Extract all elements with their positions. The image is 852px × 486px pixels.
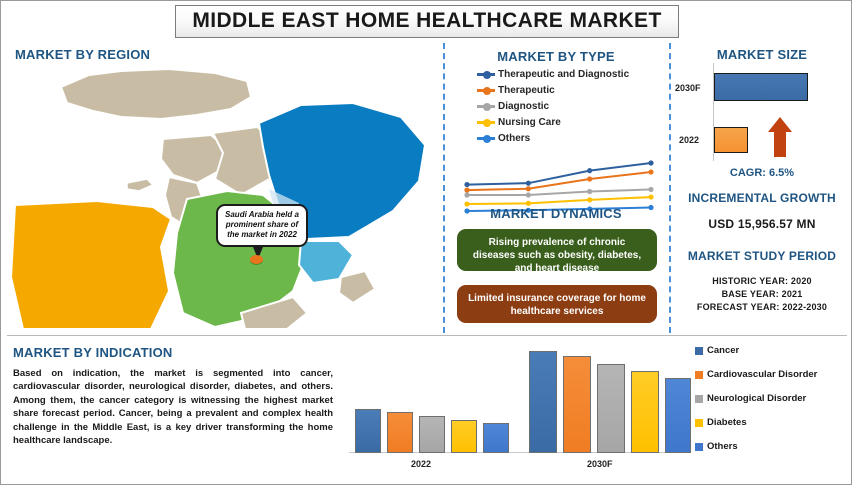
legend-item-therapeutic: Therapeutic xyxy=(477,85,629,96)
indication-paragraph: Based on indication, the market is segme… xyxy=(13,367,333,448)
legend-label: Therapeutic and Diagnostic xyxy=(498,69,629,80)
legend-item-others: Others xyxy=(477,133,629,144)
legend-line-icon xyxy=(477,105,495,108)
legend-label: Diagnostic xyxy=(498,101,549,112)
map-pin-icon xyxy=(250,255,263,264)
indication-legend-item-cancer: Cancer xyxy=(695,345,845,356)
legend-label: Others xyxy=(707,441,738,452)
incremental-growth-heading: INCREMENTAL GROWTH xyxy=(671,191,852,205)
bar-2022-diabetes xyxy=(451,420,477,453)
market-driver-box: Rising prevalence of chronic diseases su… xyxy=(457,229,657,271)
legend-dot-icon xyxy=(483,103,491,111)
indication-heading: MARKET BY INDICATION xyxy=(13,345,173,360)
indication-legend-item-others: Others xyxy=(695,441,845,452)
line-marker xyxy=(526,181,531,186)
legend-item-therapeutic-and-diagnostic: Therapeutic and Diagnostic xyxy=(477,69,629,80)
indication-legend: Cancer Cardiovascular Disorder Neurologi… xyxy=(695,345,845,465)
bar-2030f-cancer xyxy=(529,351,557,453)
bar-2022-neurological-disorder xyxy=(419,416,445,453)
growth-arrow-icon xyxy=(767,117,793,157)
market-size-panel: 2030F 2022 CAGR: 6.5% INCREMENTAL GROWTH… xyxy=(671,41,852,333)
legend-label: Others xyxy=(498,133,530,144)
indication-legend-item-diabetes: Diabetes xyxy=(695,417,845,428)
legend-label: Therapeutic xyxy=(498,85,555,96)
type-legend: Therapeutic and Diagnostic Therapeutic D… xyxy=(477,69,629,149)
divider-left xyxy=(443,43,445,333)
legend-swatch-icon xyxy=(695,419,703,427)
indication-bar-chart: 2022 2030F xyxy=(349,351,685,471)
historic-year: HISTORIC YEAR: 2020 xyxy=(671,275,852,288)
legend-item-nursing-care: Nursing Care xyxy=(477,117,629,128)
legend-dot-icon xyxy=(483,87,491,95)
map-country-cyprus xyxy=(127,179,153,191)
bar-2022-cancer xyxy=(355,409,381,453)
market-restraint-box: Limited insurance coverage for home heal… xyxy=(457,285,657,323)
size-bar-label-2022: 2022 xyxy=(679,135,699,145)
legend-label: Diabetes xyxy=(707,417,747,428)
legend-dot-icon xyxy=(483,71,491,79)
legend-line-icon xyxy=(477,89,495,92)
line-marker xyxy=(464,182,469,187)
legend-item-diagnostic: Diagnostic xyxy=(477,101,629,112)
legend-swatch-icon xyxy=(695,395,703,403)
indication-legend-item-neurological-disorder: Neurological Disorder xyxy=(695,393,845,404)
line-marker xyxy=(648,160,653,165)
map-country-turkey xyxy=(61,69,251,119)
market-by-indication-section: MARKET BY INDICATION Based on indication… xyxy=(1,337,852,486)
legend-label: Nursing Care xyxy=(498,117,561,128)
line-marker xyxy=(648,169,653,174)
bar-2030f-others xyxy=(665,378,691,453)
study-period-heading: MARKET STUDY PERIOD xyxy=(671,249,852,263)
legend-dot-icon xyxy=(483,135,491,143)
bar-group-label-2022: 2022 xyxy=(411,459,431,469)
size-bar-2030 xyxy=(714,73,808,101)
base-year: BASE YEAR: 2021 xyxy=(671,288,852,301)
forecast-year: FORECAST YEAR: 2022-2030 xyxy=(671,301,852,314)
line-marker xyxy=(648,194,653,199)
cagr-value: CAGR: 6.5% xyxy=(671,167,852,179)
line-marker xyxy=(464,192,469,197)
line-marker xyxy=(587,168,592,173)
legend-line-icon xyxy=(477,73,495,76)
legend-label: Cardiovascular Disorder xyxy=(707,369,817,380)
line-marker xyxy=(587,176,592,181)
line-marker xyxy=(526,186,531,191)
infographic-page: MIDDLE EAST HOME HEALTHCARE MARKET MARKE… xyxy=(0,0,852,485)
line-series-nursing-care xyxy=(467,197,651,204)
bar-2022-others xyxy=(483,423,509,453)
market-by-type-panel: Therapeutic and Diagnostic Therapeutic D… xyxy=(447,41,665,201)
line-marker xyxy=(648,187,653,192)
legend-line-icon xyxy=(477,121,495,124)
legend-dot-icon xyxy=(483,119,491,127)
map-country-oman xyxy=(339,271,375,303)
legend-label: Neurological Disorder xyxy=(707,393,806,404)
line-marker xyxy=(464,188,469,193)
legend-swatch-icon xyxy=(695,443,703,451)
saudi-callout: Saudi Arabia held a prominent share of t… xyxy=(216,204,308,247)
legend-line-icon xyxy=(477,137,495,140)
region-map: Saudi Arabia held a prominent share of t… xyxy=(1,41,441,333)
legend-label: Cancer xyxy=(707,345,739,356)
page-title: MIDDLE EAST HOME HEALTHCARE MARKET xyxy=(175,5,678,38)
size-bar-label-2030: 2030F xyxy=(675,83,701,93)
dynamics-heading: MARKET DYNAMICS xyxy=(447,206,665,221)
line-series-therapeutic xyxy=(467,172,651,190)
line-series-therapeutic-and-diagnostic xyxy=(467,163,651,185)
bar-2030f-neurological-disorder xyxy=(597,364,625,453)
bar-2030f-diabetes xyxy=(631,371,659,453)
line-marker xyxy=(587,189,592,194)
title-bar: MIDDLE EAST HOME HEALTHCARE MARKET xyxy=(1,5,852,38)
divider-bottom xyxy=(7,335,847,336)
legend-swatch-icon xyxy=(695,347,703,355)
incremental-growth-value: USD 15,956.57 MN xyxy=(671,217,852,231)
size-bar-2022 xyxy=(714,127,748,153)
bar-2030f-cardiovascular-disorder xyxy=(563,356,591,453)
middle-east-map-svg xyxy=(1,41,441,333)
study-period-list: HISTORIC YEAR: 2020 BASE YEAR: 2021 FORE… xyxy=(671,275,852,314)
map-country-egypt xyxy=(11,201,171,329)
indication-legend-item-cardiovascular-disorder: Cardiovascular Disorder xyxy=(695,369,845,380)
bar-2022-cardiovascular-disorder xyxy=(387,412,413,453)
legend-swatch-icon xyxy=(695,371,703,379)
line-marker xyxy=(526,192,531,197)
bar-group-label-2030f: 2030F xyxy=(587,459,613,469)
line-marker xyxy=(587,197,592,202)
